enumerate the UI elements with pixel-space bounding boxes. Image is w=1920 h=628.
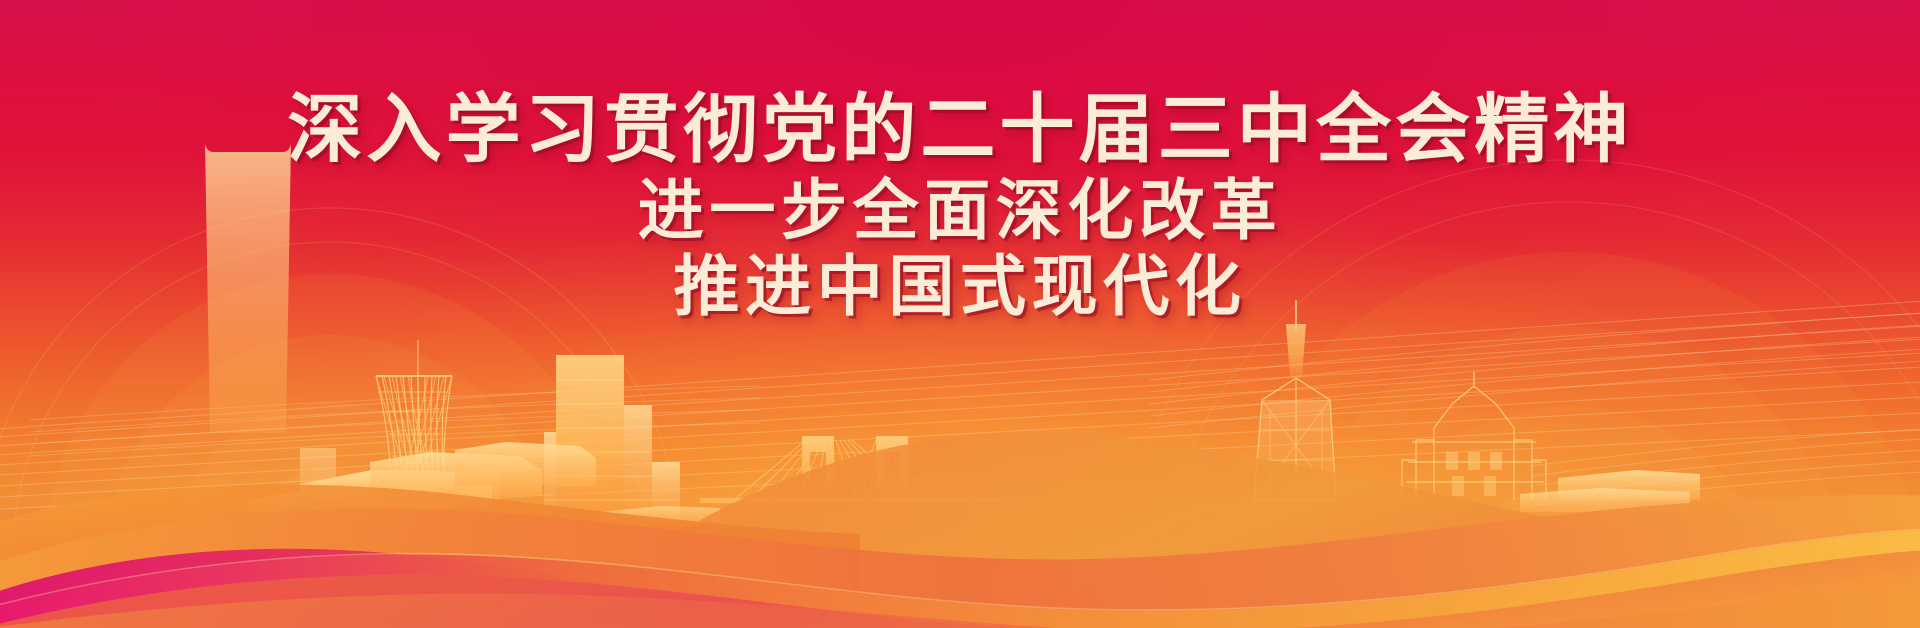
hill-mid (0, 495, 1920, 628)
left-fortress-blocks (600, 506, 720, 526)
wave-front-c (0, 580, 1920, 628)
hill-back-right (700, 432, 1920, 628)
hill-back-left (0, 484, 860, 628)
wave-front-b (0, 550, 1920, 628)
fortress-blocks (1520, 470, 1700, 512)
canton-tower (376, 340, 452, 510)
hongkong-icc-tower (1254, 300, 1336, 500)
headline-line-2: 进一步全面深化改革 (0, 177, 1920, 243)
opera-house (248, 442, 596, 520)
headline-line-3: 推进中国式现代化 (0, 253, 1920, 319)
magenta-accent (0, 549, 820, 624)
wave-ridge-highlight (0, 529, 1920, 610)
macau-ruins-st-pauls (1402, 372, 1546, 500)
cable-stayed-bridge (700, 436, 1020, 503)
wave-front-a (0, 530, 1920, 628)
headline-block: 深入学习贯彻党的二十届三中全会精神 进一步全面深化改革 推进中国式现代化 (0, 92, 1920, 319)
guangzhou-ctf-tower (544, 355, 680, 520)
poster-banner: 深入学习贯彻党的二十届三中全会精神 进一步全面深化改革 推进中国式现代化 (0, 0, 1920, 628)
headline-line-1: 深入学习贯彻党的二十届三中全会精神 (0, 92, 1920, 167)
